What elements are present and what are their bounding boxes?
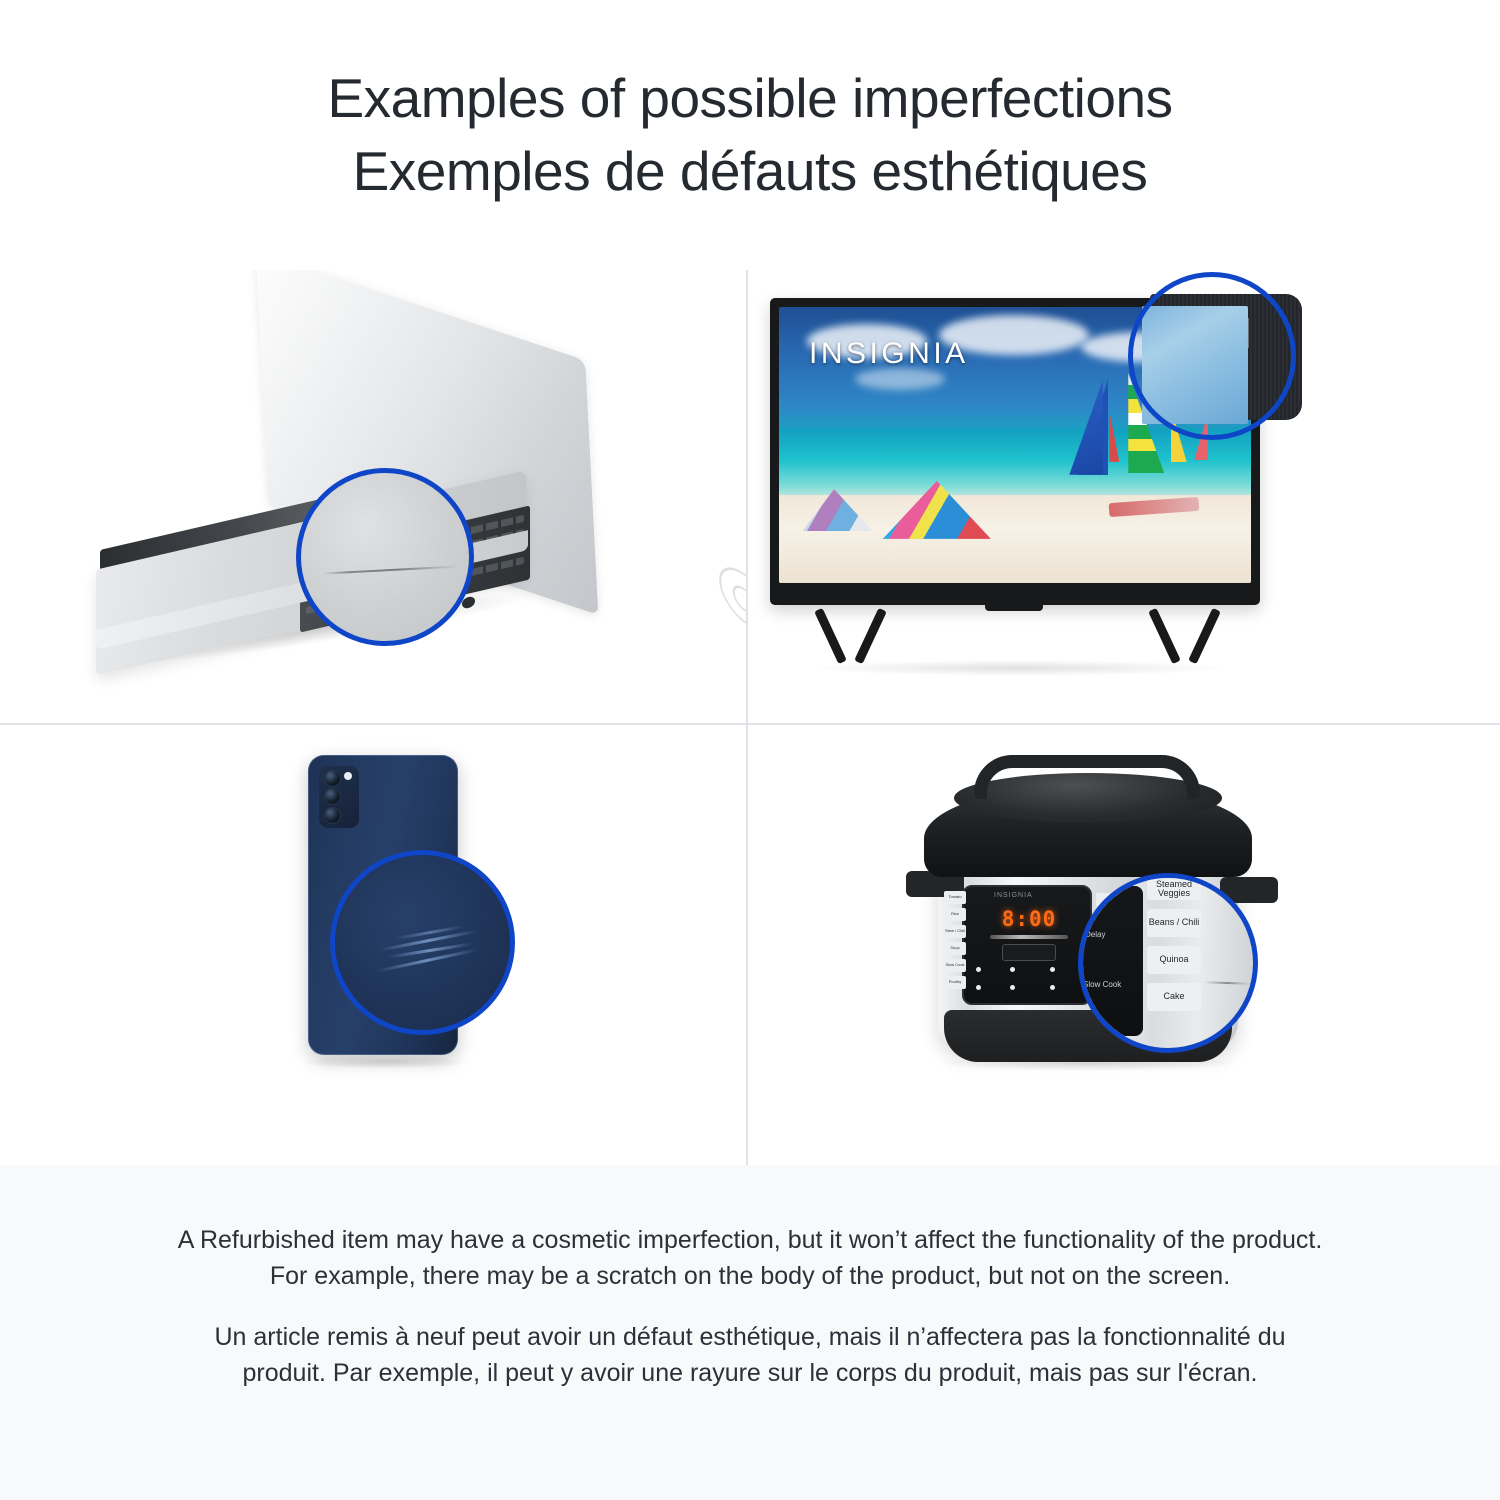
scratch-mark bbox=[323, 565, 459, 574]
dell-logo-icon bbox=[717, 556, 748, 641]
page-title-english: Examples of possible imperfections bbox=[327, 62, 1172, 135]
bezel-seam bbox=[1248, 318, 1249, 348]
laptop-illustration bbox=[0, 270, 748, 725]
tv-leg-right-a bbox=[1188, 608, 1221, 664]
page-title-french: Exemples de défauts esthétiques bbox=[353, 135, 1148, 208]
page-footer: A Refurbished item may have a cosmetic i… bbox=[0, 1165, 1500, 1500]
smartphone-illustration bbox=[0, 725, 748, 1165]
magnified-screen-edge bbox=[1142, 306, 1248, 424]
footer-paragraph-french: Un article remis à neuf peut avoir un dé… bbox=[170, 1320, 1330, 1391]
page-header: Examples of possible imperfections Exemp… bbox=[0, 0, 1500, 270]
cooker-button[interactable]: Tomato bbox=[944, 891, 966, 904]
magnifier-laptop-scratch bbox=[296, 468, 474, 646]
magnified-cooker-button[interactable]: Steamed Veggies bbox=[1147, 878, 1201, 900]
magnified-label-delay: Delay bbox=[1085, 930, 1105, 939]
magnifier-cooker-scratch: Delay Slow Cook Steamed Veggies Beans / … bbox=[1078, 873, 1258, 1053]
footer-paragraph-english: A Refurbished item may have a cosmetic i… bbox=[170, 1223, 1330, 1294]
cooker-button[interactable]: Rice bbox=[944, 908, 966, 921]
magnified-label-slow-cook: Slow Cook bbox=[1083, 980, 1121, 989]
tv-leg-left-b bbox=[814, 608, 847, 664]
cooker-button[interactable]: Stew / Chili bbox=[944, 925, 966, 938]
camera-flash-icon bbox=[344, 772, 352, 780]
grid-cell-television: INSIGNIA bbox=[748, 270, 1500, 725]
cooker-button[interactable]: Slow Cook bbox=[944, 959, 966, 972]
cooker-led-display: 8:00 bbox=[994, 907, 1064, 931]
tv-leg-right-b bbox=[1148, 608, 1181, 664]
tv-brand-logo: INSIGNIA bbox=[809, 337, 969, 371]
phone-shadow bbox=[300, 1055, 470, 1069]
magnified-cooker-button[interactable]: Cake bbox=[1147, 983, 1201, 1011]
cooker-button[interactable]: Poultry bbox=[944, 976, 966, 989]
grid-cell-smartphone bbox=[0, 725, 748, 1165]
refurbished-imperfections-infographic: Examples of possible imperfections Exemp… bbox=[0, 0, 1500, 1500]
cooker-button-column-left: Tomato Rice Stew / Chili Soup Slow Cook … bbox=[944, 891, 966, 993]
magnified-cooker-button[interactable]: Beans / Chili bbox=[1147, 909, 1201, 937]
television-illustration: INSIGNIA bbox=[748, 270, 1500, 725]
magnifier-phone-scratch bbox=[330, 850, 515, 1035]
camera-lens-1-icon bbox=[324, 770, 341, 787]
camera-lens-3-icon bbox=[324, 807, 341, 824]
magnified-cooker-button[interactable]: Quinoa bbox=[1147, 946, 1201, 974]
magnifier-tv-bezel bbox=[1128, 272, 1328, 440]
cooker-control-panel: INSIGNIA 8:00 bbox=[962, 885, 1092, 1005]
cooker-button[interactable]: Soup bbox=[944, 942, 966, 955]
tv-leg-left-a bbox=[854, 608, 887, 664]
scratch-mark bbox=[1203, 981, 1251, 984]
magnified-button-column: Steamed Veggies Beans / Chili Quinoa Cak… bbox=[1147, 878, 1201, 1020]
magnified-panel-edge bbox=[1078, 886, 1143, 1036]
product-examples-grid: INSIGNIA bbox=[0, 270, 1500, 1165]
grid-cell-pressure-cooker: INSIGNIA 8:00 Start Fish bbox=[748, 725, 1500, 1165]
tv-center-foot bbox=[985, 600, 1043, 611]
pressure-cooker-illustration: INSIGNIA 8:00 Start Fish bbox=[748, 725, 1500, 1165]
camera-lens-2-icon bbox=[324, 788, 341, 805]
tv-shadow bbox=[808, 660, 1228, 676]
camera-module-icon bbox=[319, 766, 359, 828]
grid-cell-laptop bbox=[0, 270, 748, 725]
cooker-carry-handle bbox=[974, 755, 1200, 799]
cooker-brand-label: INSIGNIA bbox=[994, 892, 1033, 899]
